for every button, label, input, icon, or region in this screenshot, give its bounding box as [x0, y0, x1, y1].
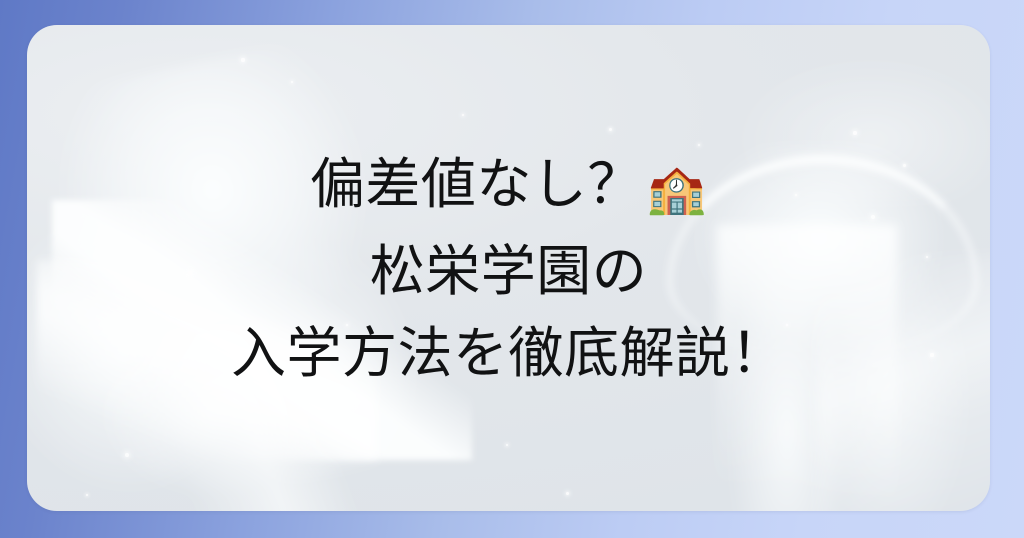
school-building-emoji: 🏫 — [647, 161, 707, 217]
headline-line-2: 松栄学園の — [27, 230, 990, 312]
sparkle-particle — [506, 444, 509, 447]
headline-line-1-text: 偏差値なし？ — [310, 152, 643, 216]
thumbnail-canvas: 偏差値なし？🏫 松栄学園の 入学方法を徹底解説！ — [0, 0, 1024, 538]
content-card: 偏差値なし？🏫 松栄学園の 入学方法を徹底解説！ — [27, 25, 990, 511]
sparkle-particle — [462, 114, 465, 117]
sparkle-particle — [566, 492, 569, 495]
sparkle-particle — [241, 58, 244, 61]
sparkle-particle — [125, 453, 129, 457]
sparkle-particle — [86, 494, 89, 497]
headline: 偏差値なし？🏫 松栄学園の 入学方法を徹底解説！ — [27, 143, 990, 394]
sparkle-particle — [609, 128, 612, 131]
headline-line-3: 入学方法を徹底解説！ — [27, 312, 990, 394]
sparkle-particle — [291, 81, 293, 83]
sparkle-particle — [853, 131, 856, 134]
headline-line-1: 偏差値なし？🏫 — [27, 143, 990, 230]
